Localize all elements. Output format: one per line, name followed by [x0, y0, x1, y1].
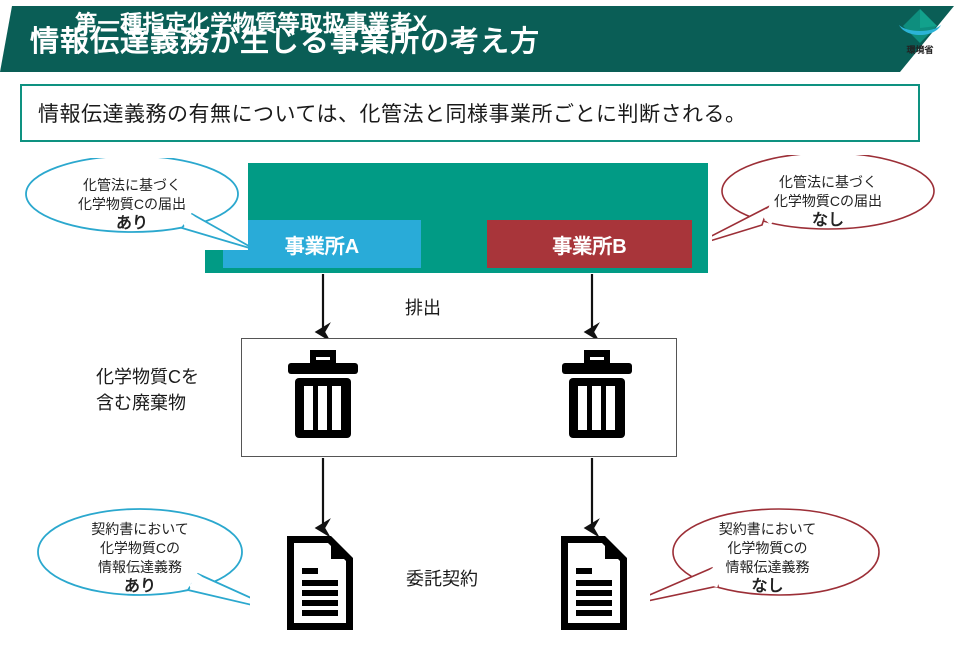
bubble-top-left-text: 化管法に基づく 化学物質Cの届出 あり [78, 176, 186, 233]
lead-statement-text: 情報伝達義務の有無については、化管法と同様事業所ごとに判断される。 [38, 98, 746, 128]
bubble-line-1: 契約書において [91, 520, 189, 539]
ministry-of-environment-logo-icon [897, 6, 943, 46]
bubble-line-1: 化管法に基づく [78, 176, 186, 195]
slide-root: 情報伝達義務が生じる事業所の考え方 環境省 情報伝達義務の有無については、化管法… [0, 0, 954, 647]
bubble-emphasis: なし [719, 577, 817, 596]
bubble-line-2: 化学物質Cの届出 [774, 192, 882, 211]
bubble-emphasis: あり [78, 214, 186, 233]
bubble-line-2: 化学物質Cの [719, 539, 817, 558]
ministry-logo-caption: 環境省 [892, 45, 948, 55]
bubble-emphasis: あり [91, 577, 189, 596]
bubble-bottom-left: 契約書において 化学物質Cの 情報伝達義務 あり [30, 502, 250, 614]
waste-label-line-1: 化学物質Cを [96, 364, 246, 390]
document-icon [283, 533, 357, 633]
emit-label: 排出 [405, 294, 441, 320]
operator-title: 第一種指定化学物質等取扱事業者X [0, 6, 503, 38]
bubble-bottom-left-text: 契約書において 化学物質Cの 情報伝達義務 あり [91, 520, 189, 596]
waste-label-line-2: 含む廃棄物 [96, 390, 246, 416]
bubble-top-right: 化管法に基づく 化学物質Cの届出 なし [712, 155, 944, 247]
bubble-bottom-right-text: 契約書において 化学物質Cの 情報伝達義務 なし [719, 520, 817, 596]
bubble-line-1: 化管法に基づく [774, 173, 882, 192]
site-box-a: 事業所A [223, 220, 421, 268]
lead-statement-box: 情報伝達義務の有無については、化管法と同様事業所ごとに判断される。 [20, 84, 920, 142]
bubble-top-left: 化管法に基づく 化学物質Cの届出 あり [16, 158, 248, 250]
bubble-line-2: 化学物質Cの [91, 539, 189, 558]
bubble-line-2: 化学物質Cの届出 [78, 195, 186, 214]
bubble-emphasis: なし [774, 211, 882, 230]
trash-bin-icon [560, 350, 634, 438]
bubble-top-right-text: 化管法に基づく 化学物質Cの届出 なし [774, 173, 882, 230]
contract-label: 委託契約 [406, 565, 478, 591]
bubble-line-1: 契約書において [719, 520, 817, 539]
bubble-line-3: 情報伝達義務 [719, 558, 817, 577]
document-icon [557, 533, 631, 633]
trash-bin-icon [286, 350, 360, 438]
site-box-b: 事業所B [487, 220, 692, 268]
ministry-logo: 環境省 [892, 6, 948, 64]
bubble-bottom-right: 契約書において 化学物質Cの 情報伝達義務 なし [650, 502, 885, 614]
waste-label: 化学物質Cを 含む廃棄物 [96, 364, 246, 416]
bubble-line-3: 情報伝達義務 [91, 558, 189, 577]
